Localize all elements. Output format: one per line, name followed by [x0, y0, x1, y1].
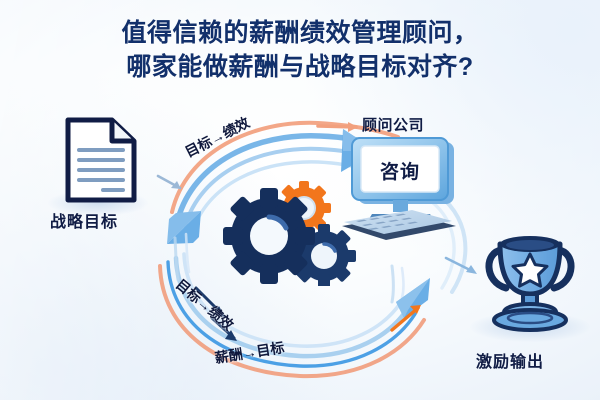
title-line-2: 哪家能做薪酬与战略目标对齐?: [0, 50, 600, 84]
page-title: 值得信赖的薪酬绩效管理顾问， 哪家能做薪酬与战略目标对齐?: [0, 16, 600, 84]
document-icon: [62, 114, 140, 206]
monitor-screen-text: 咨询: [363, 151, 437, 189]
gear-navy-large: [223, 188, 315, 284]
strategy-node-label: 战略目标: [50, 208, 118, 232]
streak-right-2: [402, 268, 404, 298]
title-line-1: 值得信赖的薪酬绩效管理顾问，: [0, 16, 600, 50]
consultant-node-label: 顾问公司: [362, 114, 424, 135]
streak-right-1: [392, 266, 394, 302]
arrowhead-salmon-top-right: [348, 122, 358, 132]
trophy-rim-inner: [506, 240, 554, 250]
trophy-icon: [472, 228, 588, 334]
monitor-screen-text-wrap: 咨询: [336, 134, 462, 246]
incentive-node-label: 激励输出: [476, 348, 544, 372]
infographic-poster: 值得信赖的薪酬绩效管理顾问， 哪家能做薪酬与战略目标对齐?: [0, 0, 600, 400]
